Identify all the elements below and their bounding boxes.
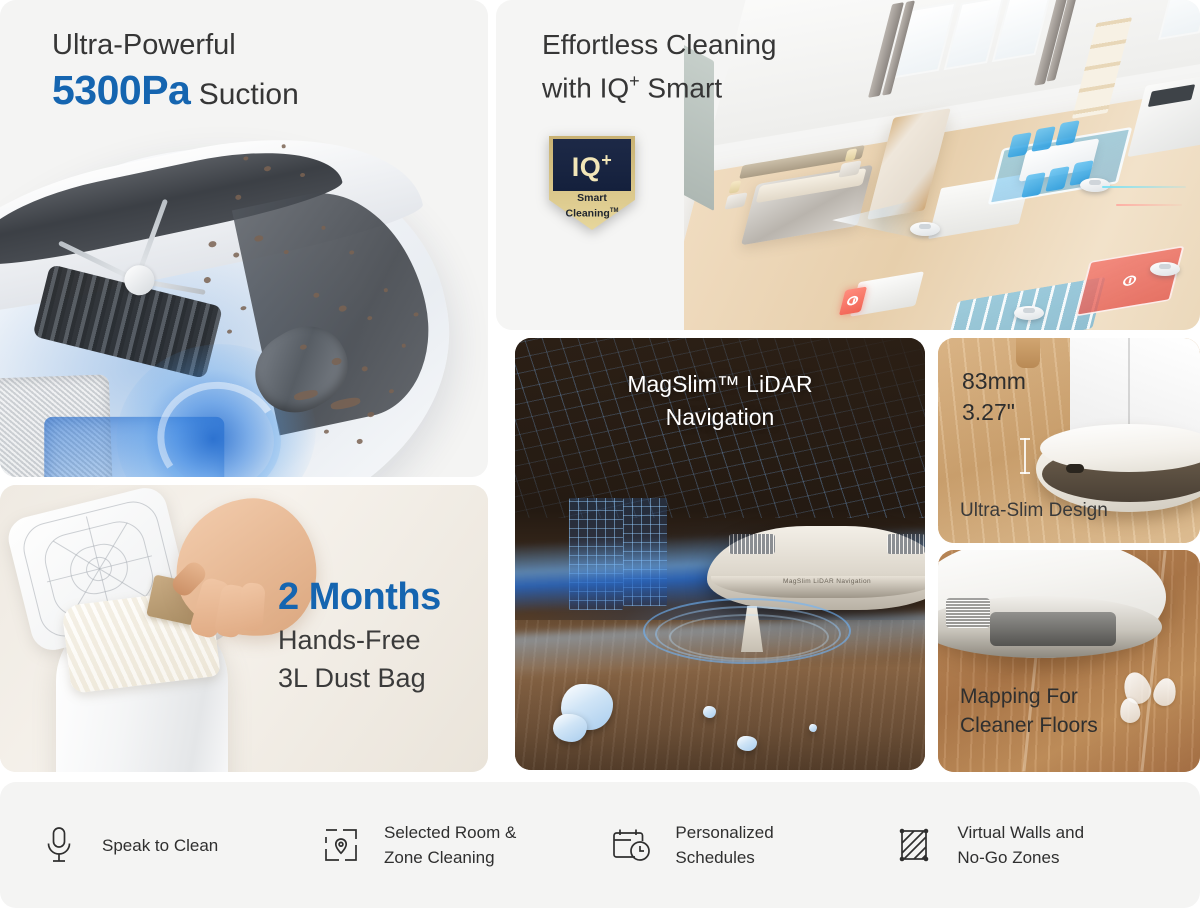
dust-line1: Hands-Free [278,621,441,659]
slim-measure-in: 3.27" [962,397,1026,428]
panel-ultra-slim: 83mm 3.27" Ultra-Slim Design [938,338,1200,543]
slim-measure-mm: 83mm [962,366,1026,397]
robot-marker-living [1014,306,1044,320]
feature-item-schedules[interactable]: Personalized Schedules [609,820,891,870]
debris-paper-5 [809,724,817,732]
iq-caption: Effortless Cleaning with IQ+ Smart [542,26,777,106]
suction-value: 5300Pa [52,67,190,113]
kitchen-counter-icon [1127,73,1200,157]
panel-dust-bag: 2 Months Hands-Free 3L Dust Bag [0,485,488,772]
feature-label-speak-to-clean: Speak to Clean [102,833,218,858]
panel-suction: Ultra-Powerful 5300Pa Suction [0,0,488,477]
dust-caption: 2 Months Hands-Free 3L Dust Bag [278,573,441,697]
robot-underside-illustration [0,94,488,477]
floorplan-pin-icon [318,822,364,868]
feature-item-speak-to-clean[interactable]: Speak to Clean [36,822,318,868]
feature-item-virtual-walls[interactable]: Virtual Walls and No-Go Zones [891,820,1164,870]
robot-marker-dining [1080,178,1110,192]
iq-headline-line1: Effortless Cleaning [542,26,777,63]
mapping-caption-line2: Cleaner Floors [960,711,1098,740]
badge-subtitle: Smart CleaningTM [549,192,635,220]
slim-measurements: 83mm 3.27" [962,366,1026,428]
iq-smart-cleaning-badge: IQ+ Smart CleaningTM [549,136,635,230]
product-feature-infographic: Ultra-Powerful 5300Pa Suction [0,0,1200,911]
feature-item-zone-cleaning[interactable]: Selected Room & Zone Cleaning [318,820,609,870]
slim-caption: Ultra-Slim Design [960,500,1108,522]
dust-value: 2 Months [278,573,441,621]
lidar-headline-line2: Navigation [515,401,925,434]
suction-headline-line1: Ultra-Powerful [52,26,299,64]
robot-marker-nogo [1150,262,1180,276]
feature-bar: Speak to Clean Selected Room & Zone Clea… [0,782,1200,908]
suction-headline-line2: 5300Pa Suction [52,64,299,121]
lidar-caption: MagSlim™ LiDAR Navigation [515,368,925,434]
debris-paper-2 [553,714,587,742]
dust-line2: 3L Dust Bag [278,659,441,697]
suction-suffix: Suction [190,78,298,111]
microphone-icon [36,822,82,868]
feature-label-zone-cleaning: Selected Room & Zone Cleaning [384,820,516,870]
feature-label-virtual-walls: Virtual Walls and No-Go Zones [957,820,1084,870]
feature-label-schedules: Personalized Schedules [675,820,773,870]
robot-marker-bedroom [910,222,940,236]
suction-caption: Ultra-Powerful 5300Pa Suction [52,26,299,121]
robot-body-label: MagSlim LiDAR Navigation [783,578,871,585]
lidar-headline-line1: MagSlim™ LiDAR [515,368,925,401]
panel-iq-smart: IQ+ Smart CleaningTM Effortless Cleaning… [496,0,1200,330]
badge-title: IQ+ [549,145,635,182]
panel-mapping: Mapping For Cleaner Floors [938,550,1200,772]
height-measure-arrow-icon [1024,438,1026,474]
debris-paper-4 [737,736,757,751]
mapping-caption-line1: Mapping For [960,682,1098,711]
mapping-caption: Mapping For Cleaner Floors [960,682,1098,740]
calendar-clock-icon [609,822,655,868]
iq-headline-line2: with IQ+ Smart [542,63,777,106]
hatched-zone-icon [891,822,937,868]
debris-paper-3 [703,706,716,718]
panel-lidar-navigation: MagSlim LiDAR Navigation MagSlim™ LiDAR … [515,338,925,770]
debris-particles [0,94,488,477]
